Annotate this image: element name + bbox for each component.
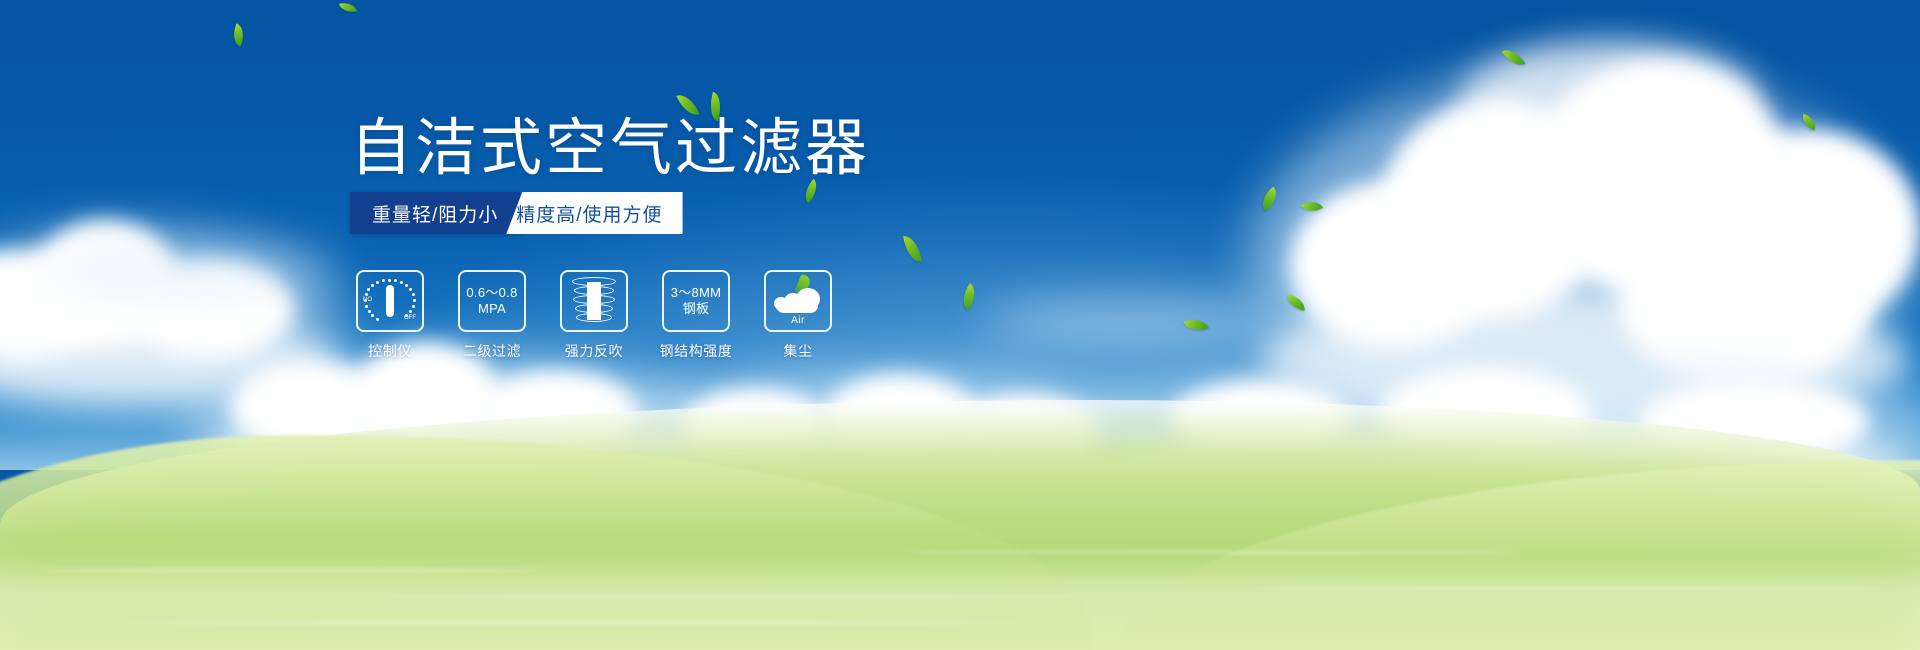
pressure-value: 0.6～0.8 (466, 285, 517, 301)
steel-thickness: 3～8MM (671, 285, 722, 301)
feature-icon-box: Air (764, 270, 832, 332)
dial-knob (386, 285, 394, 317)
feature-label: 钢结构强度 (660, 341, 733, 361)
air-label: Air (770, 315, 826, 326)
page-title: 自洁式空气过滤器 (350, 113, 870, 185)
tagline-tab-primary[interactable]: 重量轻/阻力小 (350, 192, 520, 234)
air-cloud-icon: Air (770, 278, 826, 324)
feature-icon-box: 0.6～0.8 MPA (458, 270, 526, 332)
feature-item-controller[interactable]: NO OFF 控制仪 (355, 270, 425, 361)
hero-banner: 自洁式空气过滤器 重量轻/阻力小 精度高/使用方便 (0, 0, 1920, 650)
tagline-tab-secondary[interactable]: 精度高/使用方便 (506, 192, 682, 234)
filter-cartridge-icon (572, 277, 616, 325)
tagline-tabs: 重量轻/阻力小 精度高/使用方便 (350, 192, 683, 234)
pressure-unit: MPA (478, 301, 506, 317)
feature-item-backblow[interactable]: 强力反吹 (559, 270, 629, 361)
dial-switch-icon: NO OFF (365, 277, 415, 325)
feature-label: 集尘 (783, 341, 812, 361)
feature-list: NO OFF 控制仪 0.6～0.8 MPA 二级过滤 (355, 270, 833, 361)
feature-item-dust[interactable]: Air 集尘 (763, 270, 833, 361)
feature-item-steel[interactable]: 3～8MM 钢板 钢结构强度 (661, 270, 731, 361)
banner-content: 自洁式空气过滤器 重量轻/阻力小 精度高/使用方便 (0, 0, 1920, 650)
feature-item-pressure[interactable]: 0.6～0.8 MPA 二级过滤 (457, 270, 527, 361)
dial-off-label: OFF (404, 315, 416, 321)
feature-label: 强力反吹 (565, 341, 623, 361)
feature-icon-box: NO OFF (356, 270, 424, 332)
dial-on-label: NO (363, 297, 372, 303)
steel-material: 钢板 (683, 301, 710, 317)
feature-label: 二级过滤 (463, 341, 521, 361)
feature-icon-box (560, 270, 628, 332)
feature-icon-box: 3～8MM 钢板 (662, 270, 730, 332)
feature-label: 控制仪 (368, 341, 412, 361)
